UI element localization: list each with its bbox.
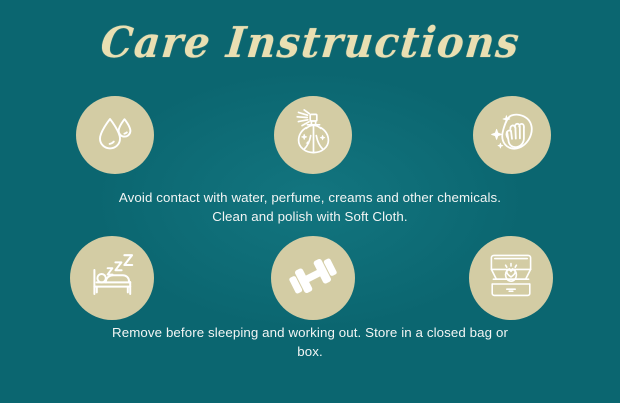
icon-badge-polishing-cloth[interactable] (473, 96, 551, 174)
dumbbell-icon (287, 251, 339, 306)
icon-circle (70, 236, 154, 320)
polishing-cloth-hand-icon (487, 109, 537, 162)
icon-circle (76, 96, 154, 174)
icon-row-top (0, 96, 620, 182)
icon-circle (473, 96, 551, 174)
jewelry-box-ring-icon (485, 251, 537, 306)
section-avoid-chemicals (0, 96, 620, 182)
title-container: Care Instructions (0, 18, 620, 68)
icon-badge-water-droplets[interactable] (76, 96, 154, 174)
care-instructions-card: Care Instructions (0, 0, 620, 403)
perfume-spray-icon (288, 109, 338, 162)
sleeping-bed-icon (87, 252, 137, 305)
icon-badge-jewelry-box[interactable] (469, 236, 553, 320)
icon-badge-dumbbell[interactable] (271, 236, 355, 320)
section-remove-and-store (0, 236, 620, 322)
icon-circle (271, 236, 355, 320)
icon-row-bottom (0, 236, 620, 322)
water-droplets-icon (92, 110, 138, 161)
page-title: Care Instructions (98, 17, 523, 70)
caption-remove-and-store: Remove before sleeping and working out. … (110, 323, 510, 362)
icon-badge-perfume-spray[interactable] (274, 96, 352, 174)
icon-badge-sleeping-bed[interactable] (70, 236, 154, 320)
icon-circle (469, 236, 553, 320)
icon-circle (274, 96, 352, 174)
caption-avoid-chemicals: Avoid contact with water, perfume, cream… (110, 188, 510, 227)
